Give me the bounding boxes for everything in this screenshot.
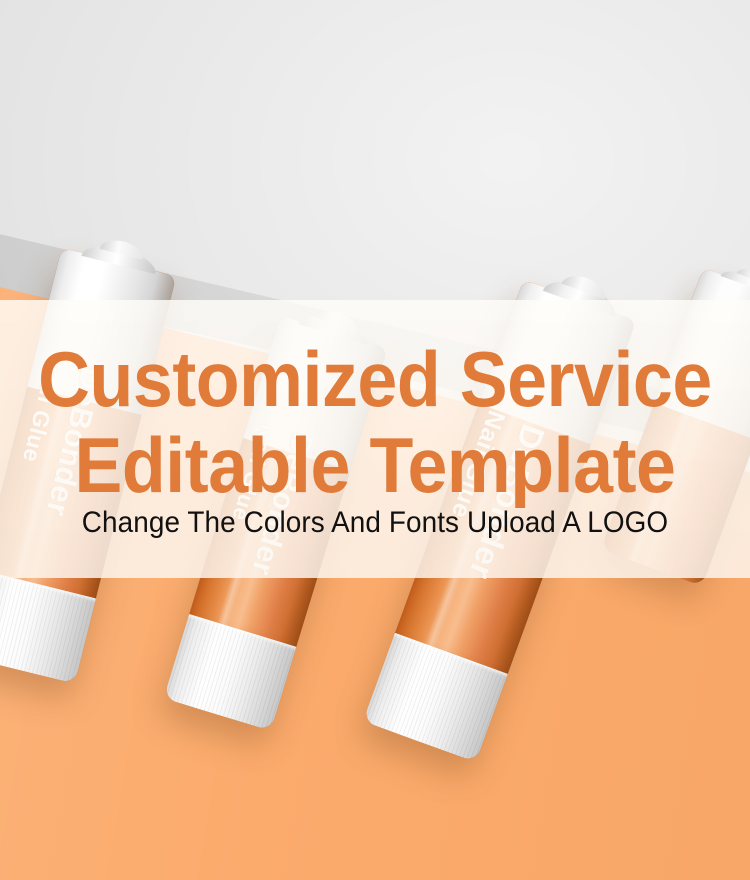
banner-subline: Change The Colors And Fonts Upload A LOG… <box>26 506 724 540</box>
headline-line-1: Customized Service <box>38 335 712 423</box>
banner-headline: Customized Service Editable Template <box>30 336 720 508</box>
promo-banner-image: DeBonder Nail Glue DeBonder Nail Glue De… <box>0 0 750 880</box>
headline-line-2: Editable Template <box>30 422 720 508</box>
